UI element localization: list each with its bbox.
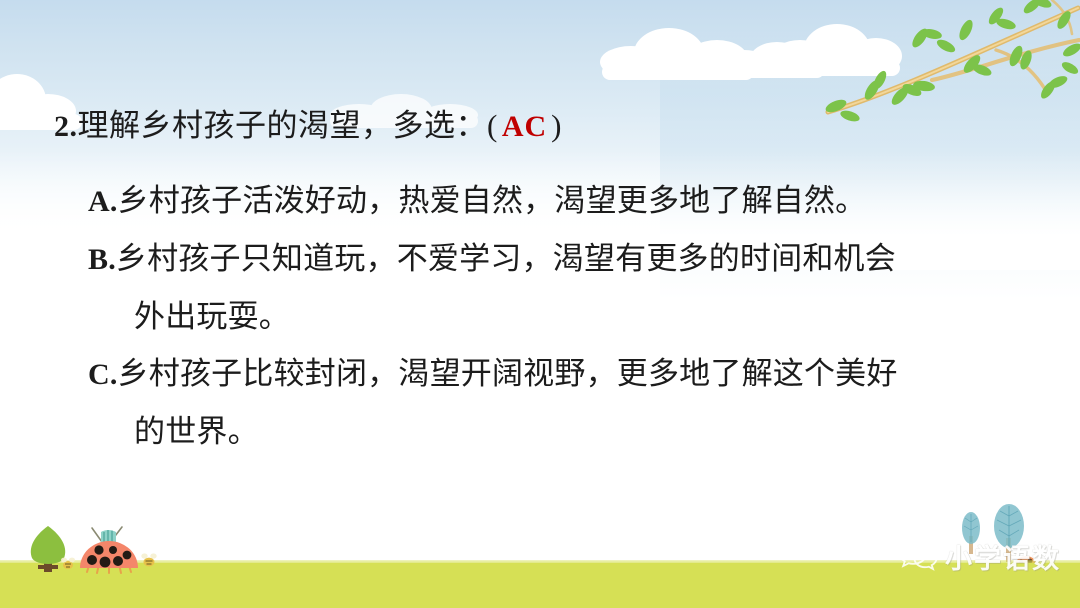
- paren-close: ): [551, 108, 562, 143]
- paren-open: (: [487, 108, 498, 143]
- answer-text: AC: [498, 110, 551, 143]
- question-stem: 理解乡村孩子的渴望，多选：: [78, 108, 488, 143]
- option-c: C.乡村孩子比较封闭，渴望开阔视野，更多地了解这个美好 的世界。: [88, 345, 1048, 460]
- option-b: B.乡村孩子只知道玩，不爱学习，渴望有更多的时间和机会 外出玩耍。: [88, 230, 1048, 345]
- ladybug-icon: [72, 524, 148, 574]
- question-line: 2.理解乡村孩子的渴望，多选：(AC): [54, 104, 562, 149]
- bee-icon: [140, 552, 158, 568]
- option-label: C.: [88, 358, 118, 391]
- option-list: A.乡村孩子活泼好动，热爱自然，渴望更多地了解自然。 B.乡村孩子只知道玩，不爱…: [88, 172, 1048, 460]
- slide-content: 2.理解乡村孩子的渴望，多选：(AC) A.乡村孩子活泼好动，热爱自然，渴望更多…: [0, 0, 1080, 608]
- question-number: 2.: [54, 110, 78, 143]
- watermark-text: 小学语数: [945, 537, 1061, 576]
- option-label: A.: [88, 185, 118, 218]
- option-text-continued: 外出玩耍。: [88, 288, 1048, 345]
- watermark: 小学语数: [898, 533, 1074, 579]
- slide-canvas: 2.理解乡村孩子的渴望，多选：(AC) A.乡村孩子活泼好动，热爱自然，渴望更多…: [0, 0, 1080, 608]
- wechat-icon: [898, 539, 938, 573]
- option-label: B.: [88, 243, 116, 276]
- option-text-continued: 的世界。: [88, 403, 1048, 460]
- bee-icon: [60, 556, 76, 570]
- option-text: 乡村孩子比较封闭，渴望开阔视野，更多地了解这个美好: [118, 356, 898, 391]
- option-text: 乡村孩子只知道玩，不爱学习，渴望有更多的时间和机会: [116, 241, 896, 276]
- option-text: 乡村孩子活泼好动，热爱自然，渴望更多地了解自然。: [118, 183, 867, 218]
- option-a: A.乡村孩子活泼好动，热爱自然，渴望更多地了解自然。: [88, 172, 1048, 230]
